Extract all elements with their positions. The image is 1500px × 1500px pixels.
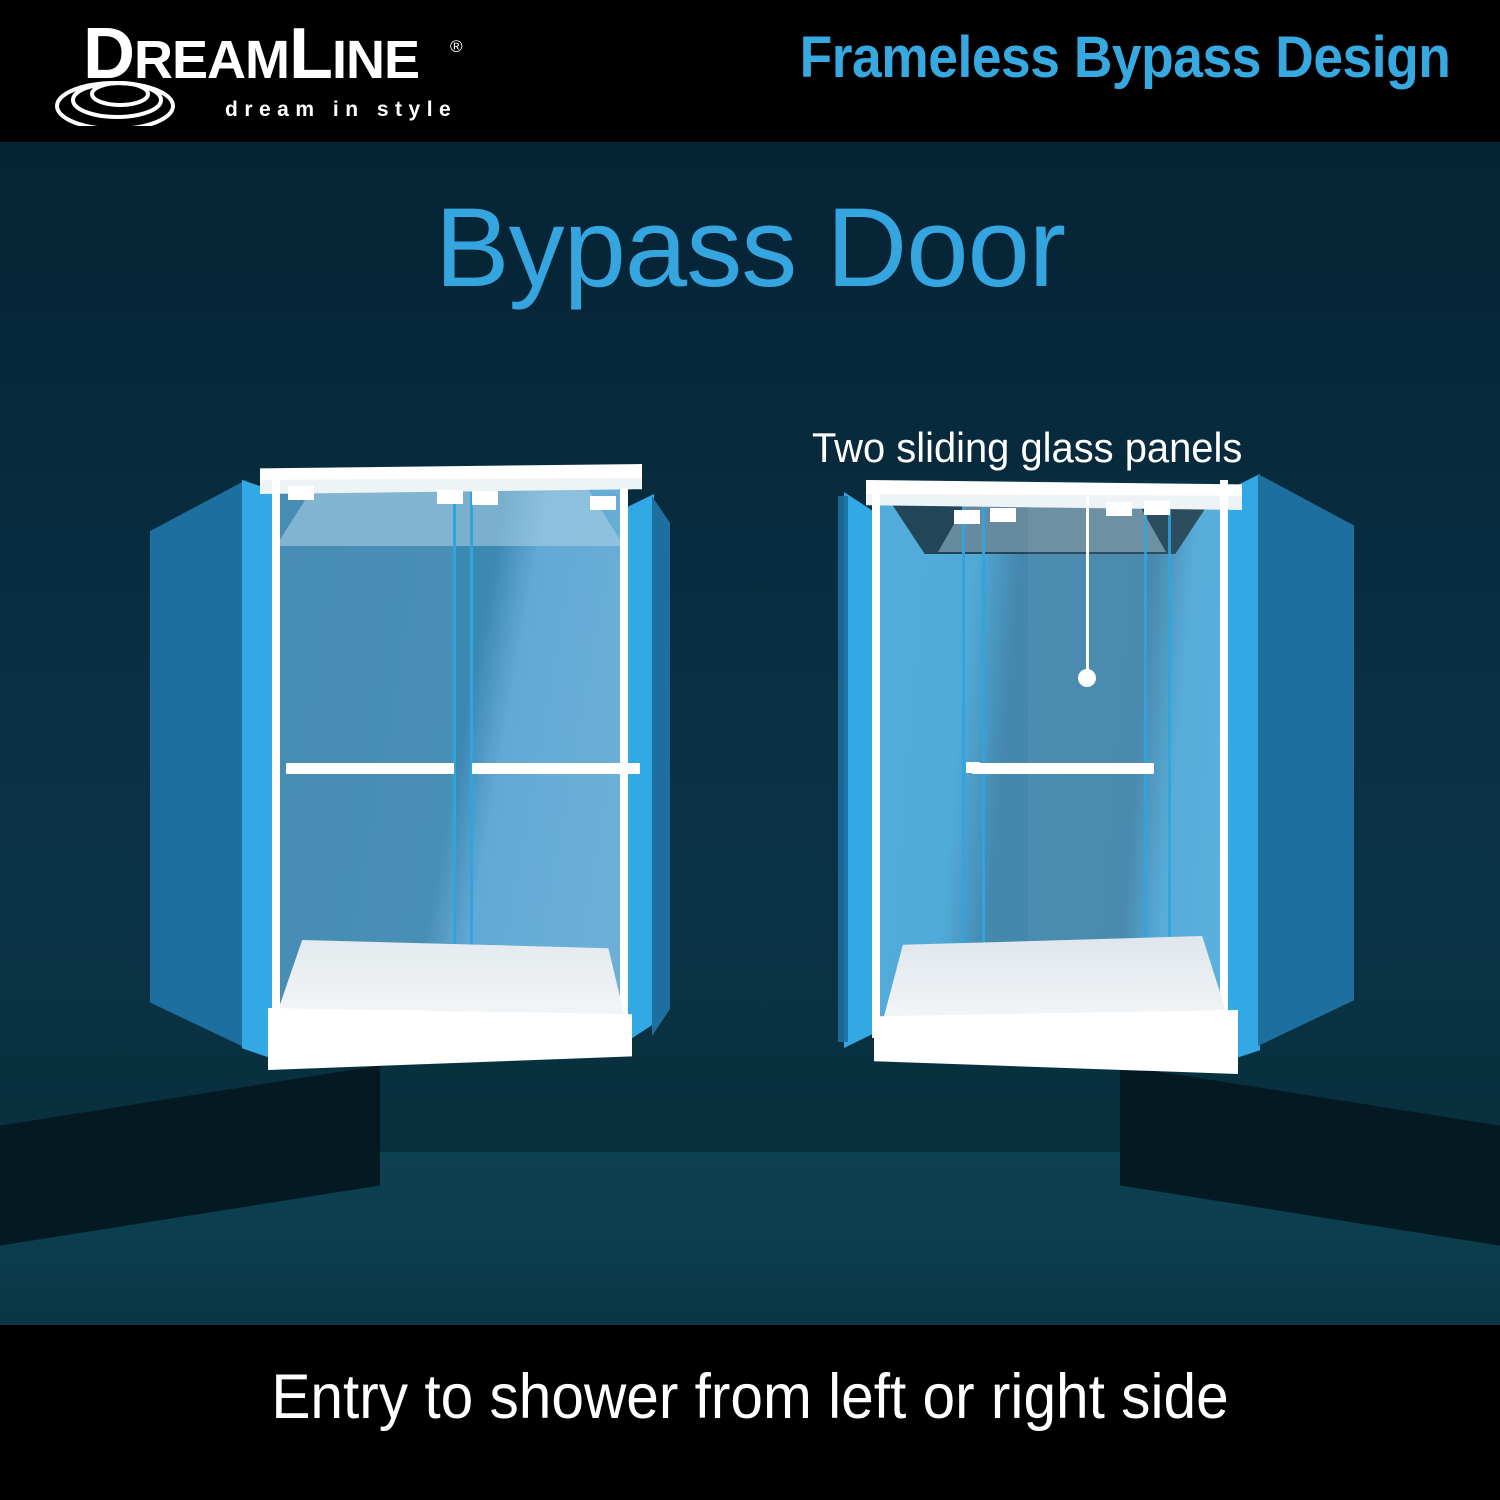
left-unit-handle-2[interactable] (472, 763, 640, 774)
right-unit-roller-4 (1144, 501, 1170, 515)
left-unit-roller-2 (437, 490, 463, 504)
svg-text:DREAMLINE: DREAMLINE (83, 16, 419, 90)
callout-leader-line (1086, 490, 1089, 674)
registered-mark: ® (450, 38, 463, 55)
left-unit-roller-4 (590, 496, 616, 510)
footer-bar: Entry to shower from left or right side (0, 1325, 1500, 1500)
left-unit-roller-1 (288, 486, 314, 500)
brand-logo: DREAMLINE ® dream in style (55, 16, 475, 128)
brand-wordmark: DREAMLINE (83, 16, 483, 90)
header-title: Frameless Bypass Design (799, 24, 1450, 91)
diagram-scene: Bypass Door (0, 142, 1500, 1325)
right-unit-tray-floor (882, 936, 1230, 1024)
header-bar: DREAMLINE ® dream in style Frameless Byp… (0, 0, 1500, 142)
left-unit-roller-3 (472, 491, 498, 505)
right-unit-tray (874, 1010, 1238, 1074)
right-unit-right-side-wall (1258, 474, 1354, 1046)
left-unit-side-wall (150, 480, 246, 1048)
right-unit-roller-2 (990, 508, 1016, 522)
left-unit-right-frame (620, 488, 628, 1030)
left-shower-enclosure (150, 418, 670, 1108)
right-unit-handle-1[interactable] (972, 763, 1154, 774)
right-shower-enclosure (838, 418, 1358, 1108)
right-unit-left-side-wall (838, 496, 848, 1042)
page-title: Bypass Door (0, 192, 1500, 304)
brand-tagline: dream in style (225, 98, 457, 122)
left-unit-handle-1[interactable] (286, 763, 454, 774)
right-unit-roller-1 (954, 510, 980, 524)
left-unit-right-side-wall (652, 496, 670, 1036)
right-unit-right-frame (1220, 480, 1228, 1032)
right-unit-handle-2[interactable] (966, 762, 980, 773)
callout-label: Two sliding glass panels (812, 424, 1242, 472)
callout-dot-icon (1078, 669, 1096, 687)
footer-caption: Entry to shower from left or right side (53, 1361, 1448, 1433)
product-infographic: DREAMLINE ® dream in style Frameless Byp… (0, 0, 1500, 1500)
left-unit-front-pillar (242, 474, 276, 1060)
right-unit-roller-3 (1106, 502, 1132, 516)
left-unit-glass-panel-2 (456, 490, 624, 1018)
right-unit-right-pillar (1224, 474, 1260, 1062)
right-unit-left-frame (872, 490, 880, 1038)
left-unit-left-frame (272, 480, 280, 1026)
left-unit-glass-panel-1 (278, 490, 456, 1018)
left-unit-tray (268, 1008, 632, 1070)
